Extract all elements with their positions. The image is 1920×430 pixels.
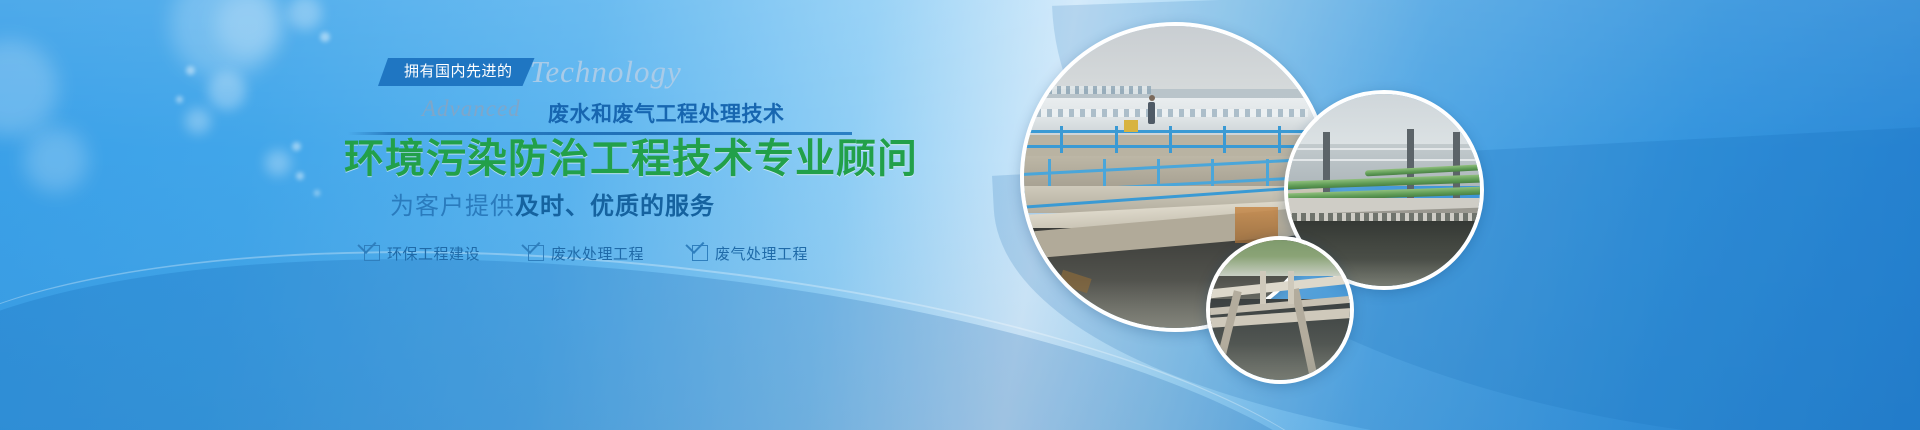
- photo-content: [1210, 240, 1350, 380]
- script-word-technology: Technology: [530, 54, 682, 90]
- bokeh-circle: [186, 66, 195, 75]
- tagline-plain: 为客户提供: [390, 193, 515, 220]
- walkway-over-basin-photo: [1206, 236, 1354, 384]
- bokeh-circle: [208, 72, 246, 110]
- check-icon: [364, 245, 380, 261]
- bokeh-circle: [185, 108, 211, 134]
- tagline-row-technology: 拥有国内先进的 Technology: [300, 58, 860, 92]
- list-item-label: 废气处理工程: [715, 243, 808, 264]
- hero-banner: 拥有国内先进的 Technology Advanced 废水和废气工程处理技术 …: [0, 0, 1920, 430]
- bokeh-circle: [265, 150, 291, 176]
- script-word-advanced: Advanced: [422, 96, 521, 122]
- check-icon: [692, 245, 708, 261]
- hero-tagline: 为客户提供及时、优质的服务: [390, 186, 860, 221]
- check-icon: [528, 245, 544, 261]
- list-item[interactable]: 废水处理工程: [528, 243, 644, 264]
- list-item-label: 环保工程建设: [387, 243, 480, 264]
- bokeh-circle: [320, 32, 330, 42]
- hero-tag-badge: 拥有国内先进的: [378, 58, 535, 86]
- list-item-label: 废水处理工程: [551, 243, 644, 264]
- list-item[interactable]: 环保工程建设: [364, 243, 480, 264]
- page-title: 环境污染防治工程技术专业顾问: [344, 137, 860, 182]
- list-item[interactable]: 废气处理工程: [692, 243, 808, 264]
- bokeh-circle: [24, 128, 88, 192]
- hero-subtitle: 废水和废气工程处理技术: [548, 98, 785, 128]
- hero-copy: 拥有国内先进的 Technology Advanced 废水和废气工程处理技术 …: [300, 58, 860, 264]
- photo-collage: [1020, 0, 1920, 430]
- tagline-row-advanced: Advanced 废水和废气工程处理技术: [300, 96, 860, 128]
- tagline-emphasis: 及时、优质的服务: [515, 193, 715, 220]
- divider-rule: [348, 132, 852, 135]
- feature-check-list: 环保工程建设 废水处理工程 废气处理工程: [364, 243, 860, 264]
- bokeh-circle: [176, 96, 183, 103]
